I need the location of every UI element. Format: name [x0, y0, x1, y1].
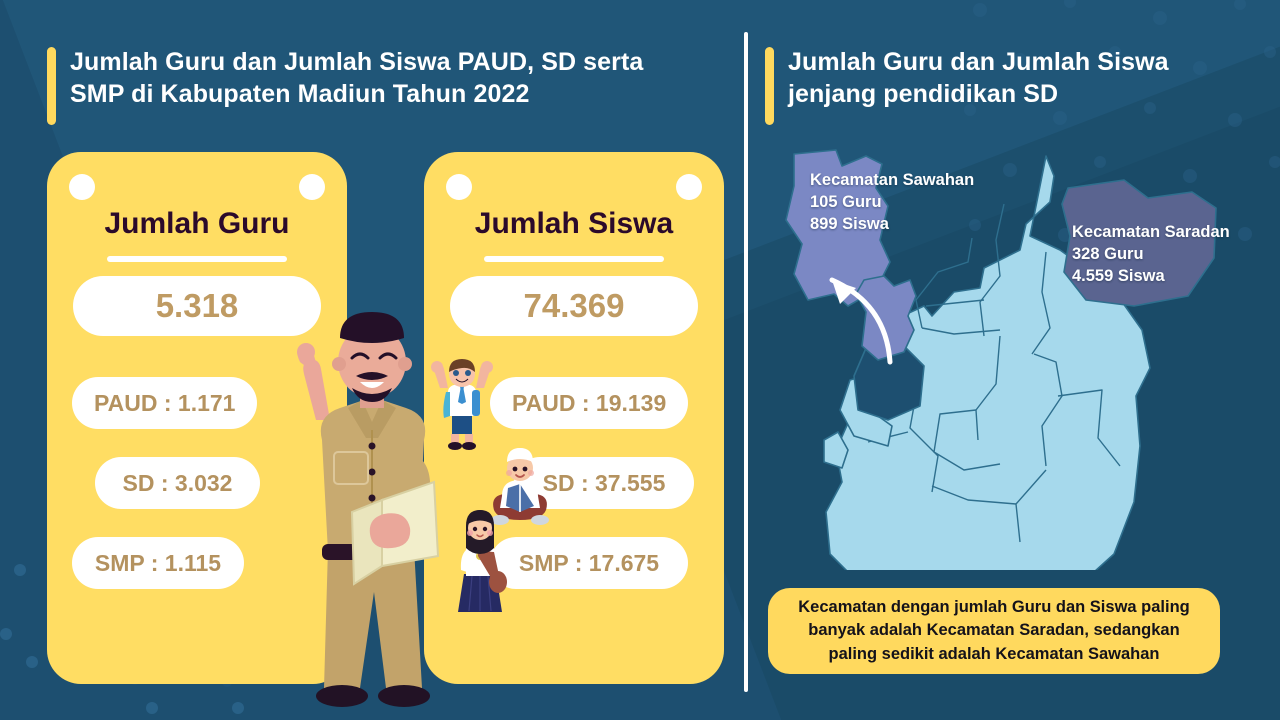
title-accent-bar — [765, 47, 774, 125]
card-breakdown-paud: PAUD : 19.139 — [490, 377, 688, 429]
card-title: Jumlah Guru — [47, 207, 347, 241]
right-panel-title: Jumlah Guru dan Jumlah Siswa jenjang pen… — [765, 47, 1225, 125]
right-panel-title-text: Jumlah Guru dan Jumlah Siswa jenjang pen… — [788, 47, 1169, 125]
student-boy-cheering-illustration — [430, 358, 494, 450]
callout-district-name: Kecamatan Saradan — [1072, 222, 1230, 244]
card-title: Jumlah Siswa — [424, 207, 724, 241]
card-breakdown-smp: SMP : 1.115 — [72, 537, 244, 589]
student-girl-illustration — [448, 508, 512, 618]
callout-district-name: Kecamatan Sawahan — [810, 170, 974, 192]
card-punch-hole-right — [299, 174, 325, 200]
card-punch-hole-right — [676, 174, 702, 200]
card-punch-hole-left — [69, 174, 95, 200]
title-accent-bar — [47, 47, 56, 125]
callout-teachers: 328 Guru — [1072, 244, 1230, 266]
callout-teachers: 105 Guru — [810, 192, 974, 214]
panel-divider — [744, 32, 748, 692]
infographic-canvas: Jumlah Guru dan Jumlah Siswa PAUD, SD se… — [0, 0, 1280, 720]
card-underline — [107, 256, 287, 262]
callout-students: 899 Siswa — [810, 214, 974, 236]
card-punch-hole-left — [446, 174, 472, 200]
card-underline — [484, 256, 664, 262]
callout-students: 4.559 Siswa — [1072, 266, 1230, 288]
map-callout-sawahan: Kecamatan Sawahan 105 Guru 899 Siswa — [810, 170, 974, 236]
card-total-value: 74.369 — [450, 276, 698, 336]
card-breakdown-sd: SD : 3.032 — [95, 457, 260, 509]
summary-caption: Kecamatan dengan jumlah Guru dan Siswa p… — [768, 588, 1220, 674]
card-breakdown-smp: SMP : 17.675 — [490, 537, 688, 589]
card-breakdown-paud: PAUD : 1.171 — [72, 377, 257, 429]
left-panel-title-text: Jumlah Guru dan Jumlah Siswa PAUD, SD se… — [70, 47, 643, 125]
map-callout-saradan: Kecamatan Saradan 328 Guru 4.559 Siswa — [1072, 222, 1230, 288]
left-panel-title: Jumlah Guru dan Jumlah Siswa PAUD, SD se… — [47, 47, 707, 125]
